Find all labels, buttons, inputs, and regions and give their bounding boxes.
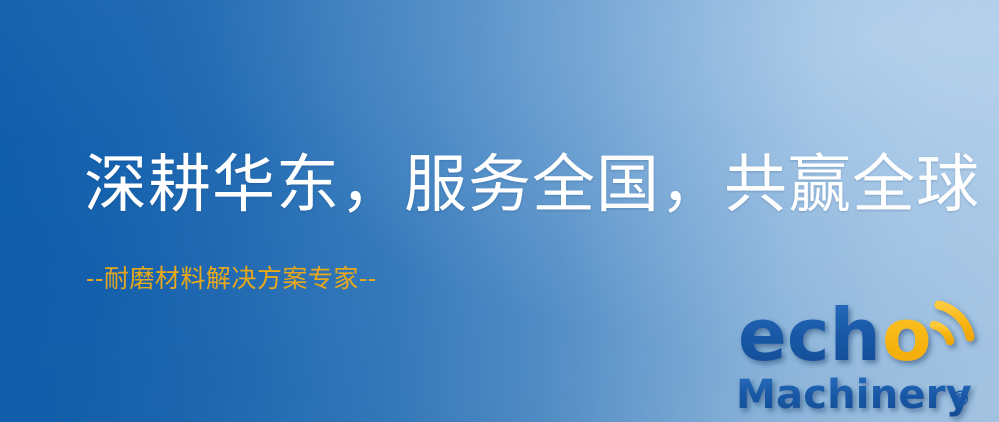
signal-waves-icon [934,305,970,341]
logo-wordmark-main: ech [738,293,881,377]
banner-headline: 深耕华东，服务全国，共赢全球 [84,152,980,218]
logo-wordmark-accent: o [882,293,931,377]
logo-wordmark-sub: Machinery [736,372,972,418]
echo-machinery-logo[interactable]: ech o Machinery ® [734,292,989,422]
logo-text-machinery: Machinery [736,372,972,418]
logo-text-o: o [882,293,931,377]
registered-trademark-symbol: ® [950,387,971,411]
banner-subtitle: --耐磨材料解决方案专家-- [86,265,377,293]
logo-text-ech: ech [738,293,881,377]
promotional-banner: 深耕华东，服务全国，共赢全球 --耐磨材料解决方案专家-- [0,0,999,422]
